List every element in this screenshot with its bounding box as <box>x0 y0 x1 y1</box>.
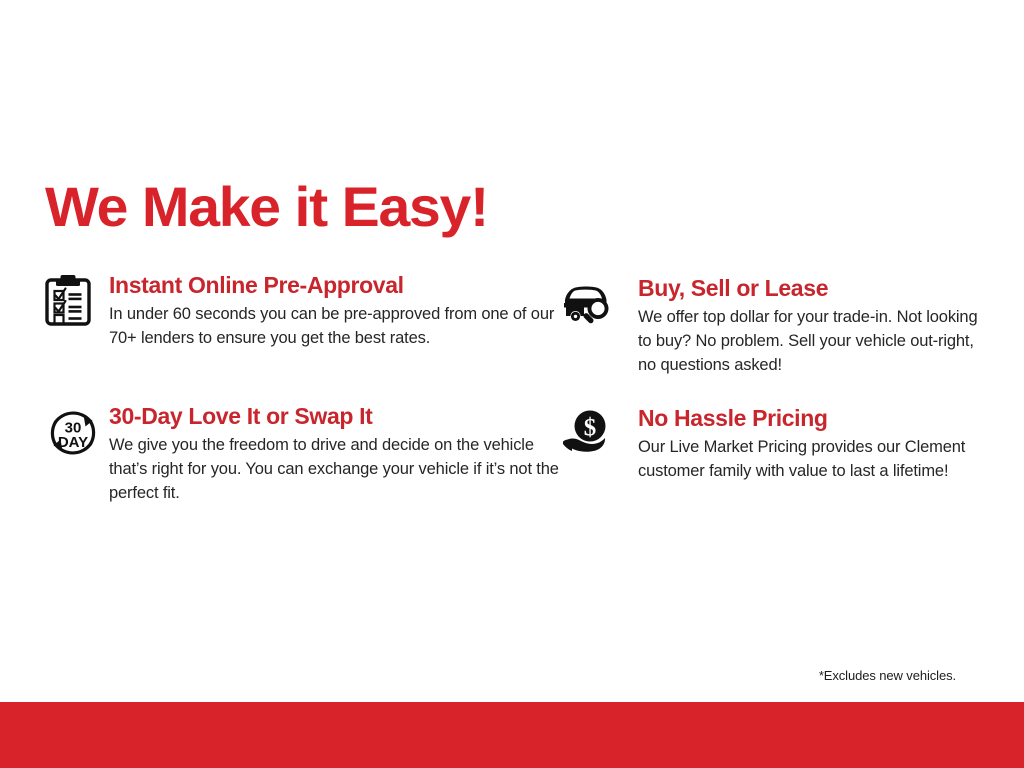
feature-heading: No Hassle Pricing <box>638 405 980 432</box>
feature-heading: Buy, Sell or Lease <box>638 275 980 302</box>
feature-description: Our Live Market Pricing provides our Cle… <box>638 435 980 483</box>
features-grid: Instant Online Pre-Approval In under 60 … <box>45 272 995 505</box>
footer-accent-bar <box>0 702 1024 768</box>
feature-buy-sell-or-lease: Buy, Sell or Lease We offer top dollar f… <box>560 272 980 377</box>
svg-text:$: $ <box>584 415 597 442</box>
feature-heading: 30-Day Love It or Swap It <box>109 403 560 430</box>
feature-description: We give you the freedom to drive and dec… <box>109 433 560 505</box>
thirty-day-icon-unit: DAY <box>58 434 88 451</box>
hand-holding-money-icon: $ <box>560 403 638 505</box>
footnote-disclaimer: *Excludes new vehicles. <box>819 668 956 684</box>
feature-no-hassle-pricing: $ No Hassle Pricing Our Live Market Pric… <box>560 403 980 505</box>
feature-instant-online-pre-approval: Instant Online Pre-Approval In under 60 … <box>45 272 560 377</box>
clipboard-checklist-icon <box>45 272 109 377</box>
feature-body: No Hassle Pricing Our Live Market Pricin… <box>638 405 980 505</box>
car-magnifier-icon <box>560 272 638 377</box>
promo-slide: We Make it Easy! <box>0 0 1024 768</box>
page-title: We Make it Easy! <box>45 176 488 238</box>
features-row: Instant Online Pre-Approval In under 60 … <box>45 272 995 377</box>
feature-body: 30-Day Love It or Swap It We give you th… <box>109 403 560 505</box>
feature-30-day-love-it-or-swap-it: 30 DAY 30-Day Love It or Swap It We give… <box>45 403 560 505</box>
feature-body: Instant Online Pre-Approval In under 60 … <box>109 272 560 377</box>
feature-body: Buy, Sell or Lease We offer top dollar f… <box>638 275 980 377</box>
feature-heading: Instant Online Pre-Approval <box>109 272 560 299</box>
features-row: 30 DAY 30-Day Love It or Swap It We give… <box>45 403 995 505</box>
feature-description: In under 60 seconds you can be pre-appro… <box>109 302 560 350</box>
thirty-day-cycle-icon: 30 DAY <box>45 403 109 505</box>
feature-description: We offer top dollar for your trade-in. N… <box>638 305 980 377</box>
